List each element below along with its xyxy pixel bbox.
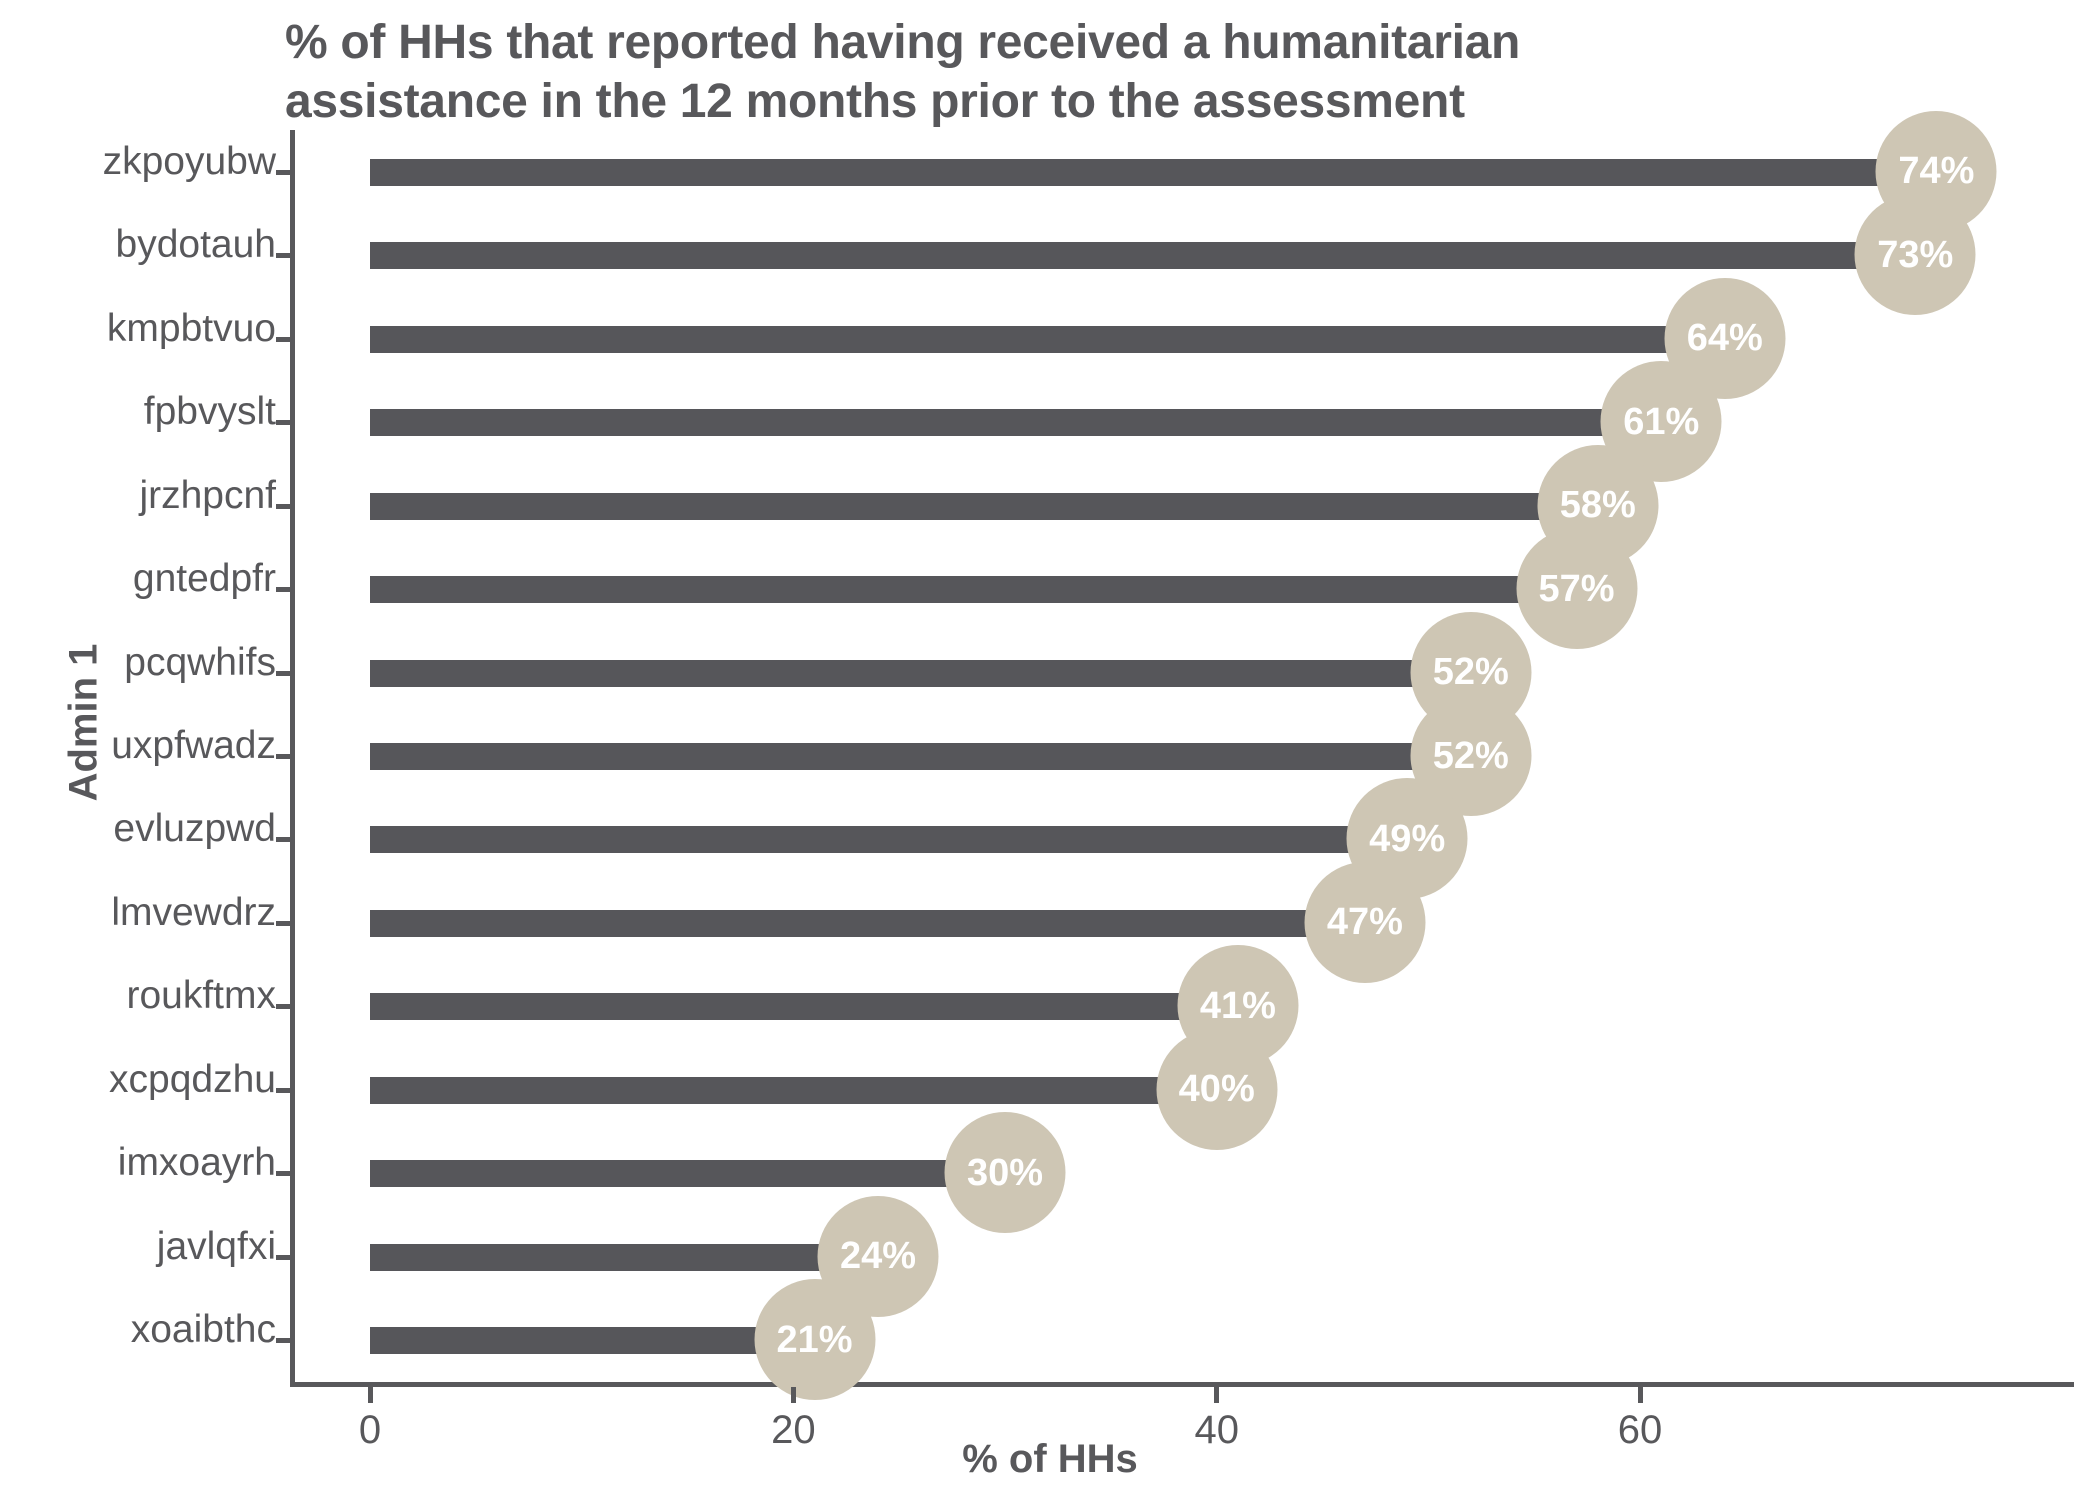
plot-area: zkpoyubw74%bydotauh73%kmpbtvuo64%fpbvysl… xyxy=(290,130,2074,1382)
value-label: 64% xyxy=(1687,319,1763,357)
chart-row: roukftmx41% xyxy=(290,967,2074,1045)
category-label: uxpfwadz xyxy=(0,724,276,768)
value-bar xyxy=(370,159,1936,186)
x-axis-title: % of HHs xyxy=(0,1437,2100,1482)
value-label: 41% xyxy=(1200,987,1276,1025)
y-axis-tick xyxy=(276,1255,290,1260)
x-axis-spine xyxy=(290,1382,2074,1387)
chart-row: imxoayrh30% xyxy=(290,1134,2074,1212)
y-axis-tick xyxy=(276,337,290,342)
chart-row: uxpfwadz52% xyxy=(290,717,2074,795)
value-marker: 40% xyxy=(1156,1029,1277,1150)
chart-row: xoaibthc21% xyxy=(290,1301,2074,1379)
value-label: 52% xyxy=(1433,737,1509,775)
value-bar xyxy=(370,1244,878,1271)
chart-row: lmvewdrz47% xyxy=(290,884,2074,962)
value-marker: 47% xyxy=(1304,862,1425,983)
y-axis-tick xyxy=(276,1338,290,1343)
value-label: 74% xyxy=(1898,152,1974,190)
chart-row: fpbvyslt61% xyxy=(290,383,2074,461)
category-label: gntedpfr xyxy=(0,557,276,601)
category-label: lmvewdrz xyxy=(0,891,276,935)
value-bar xyxy=(370,993,1238,1020)
category-label: fpbvyslt xyxy=(0,390,276,434)
category-label: xcpqdzhu xyxy=(0,1058,276,1102)
y-axis-tick xyxy=(276,1088,290,1093)
lollipop-chart: % of HHs that reported having received a… xyxy=(0,0,2100,1500)
value-label: 61% xyxy=(1623,403,1699,441)
x-axis-tick xyxy=(1638,1387,1643,1403)
category-label: xoaibthc xyxy=(0,1308,276,1352)
value-label: 24% xyxy=(840,1237,916,1275)
y-axis-tick xyxy=(276,754,290,759)
value-label: 57% xyxy=(1539,570,1615,608)
category-label: roukftmx xyxy=(0,974,276,1018)
chart-row: evluzpwd49% xyxy=(290,800,2074,878)
value-bar xyxy=(370,660,1471,687)
x-axis-tick xyxy=(368,1387,373,1403)
chart-row: gntedpfr57% xyxy=(290,550,2074,628)
y-axis-tick xyxy=(276,671,290,676)
value-bar xyxy=(370,910,1365,937)
category-label: zkpoyubw xyxy=(0,140,276,184)
y-axis-tick xyxy=(276,587,290,592)
value-bar xyxy=(370,743,1471,770)
chart-row: xcpqdzhu40% xyxy=(290,1051,2074,1129)
category-label: evluzpwd xyxy=(0,807,276,851)
value-label: 47% xyxy=(1327,903,1403,941)
value-label: 58% xyxy=(1560,486,1636,524)
value-bar xyxy=(370,826,1407,853)
y-axis-tick xyxy=(276,170,290,175)
chart-title-line-2: assistance in the 12 months prior to the… xyxy=(285,73,1845,132)
value-marker: 30% xyxy=(945,1112,1066,1233)
value-bar xyxy=(370,576,1577,603)
y-axis-tick xyxy=(276,504,290,509)
x-axis-tick xyxy=(1214,1387,1219,1403)
category-label: javlqfxi xyxy=(0,1225,276,1269)
y-axis-tick xyxy=(276,420,290,425)
chart-row: bydotauh73% xyxy=(290,216,2074,294)
value-marker: 21% xyxy=(754,1279,875,1400)
category-label: kmpbtvuo xyxy=(0,307,276,351)
chart-row: zkpoyubw74% xyxy=(290,133,2074,211)
value-label: 52% xyxy=(1433,653,1509,691)
chart-row: kmpbtvuo64% xyxy=(290,300,2074,378)
y-axis-tick xyxy=(276,837,290,842)
chart-row: jrzhpcnf58% xyxy=(290,467,2074,545)
value-bar xyxy=(370,1160,1005,1187)
chart-title-line-1: % of HHs that reported having received a… xyxy=(285,14,1845,73)
value-marker: 73% xyxy=(1855,194,1976,315)
category-label: pcqwhifs xyxy=(0,641,276,685)
value-marker: 57% xyxy=(1516,528,1637,649)
value-bar xyxy=(370,1077,1217,1104)
value-bar xyxy=(370,326,1725,353)
category-label: imxoayrh xyxy=(0,1141,276,1185)
value-label: 40% xyxy=(1179,1070,1255,1108)
value-bar xyxy=(370,242,1915,269)
value-label: 21% xyxy=(776,1321,852,1359)
value-bar xyxy=(370,493,1598,520)
category-label: jrzhpcnf xyxy=(0,474,276,518)
chart-row: javlqfxi24% xyxy=(290,1218,2074,1296)
y-axis-tick xyxy=(276,1171,290,1176)
value-bar xyxy=(370,409,1661,436)
y-axis-tick xyxy=(276,1004,290,1009)
chart-row: pcqwhifs52% xyxy=(290,634,2074,712)
value-label: 49% xyxy=(1369,820,1445,858)
y-axis-tick xyxy=(276,921,290,926)
y-axis-tick xyxy=(276,253,290,258)
value-bar xyxy=(370,1327,815,1354)
value-label: 30% xyxy=(967,1154,1043,1192)
category-label: bydotauh xyxy=(0,223,276,267)
x-axis-tick xyxy=(791,1387,796,1403)
value-label: 73% xyxy=(1877,236,1953,274)
chart-title: % of HHs that reported having received a… xyxy=(285,14,1845,131)
